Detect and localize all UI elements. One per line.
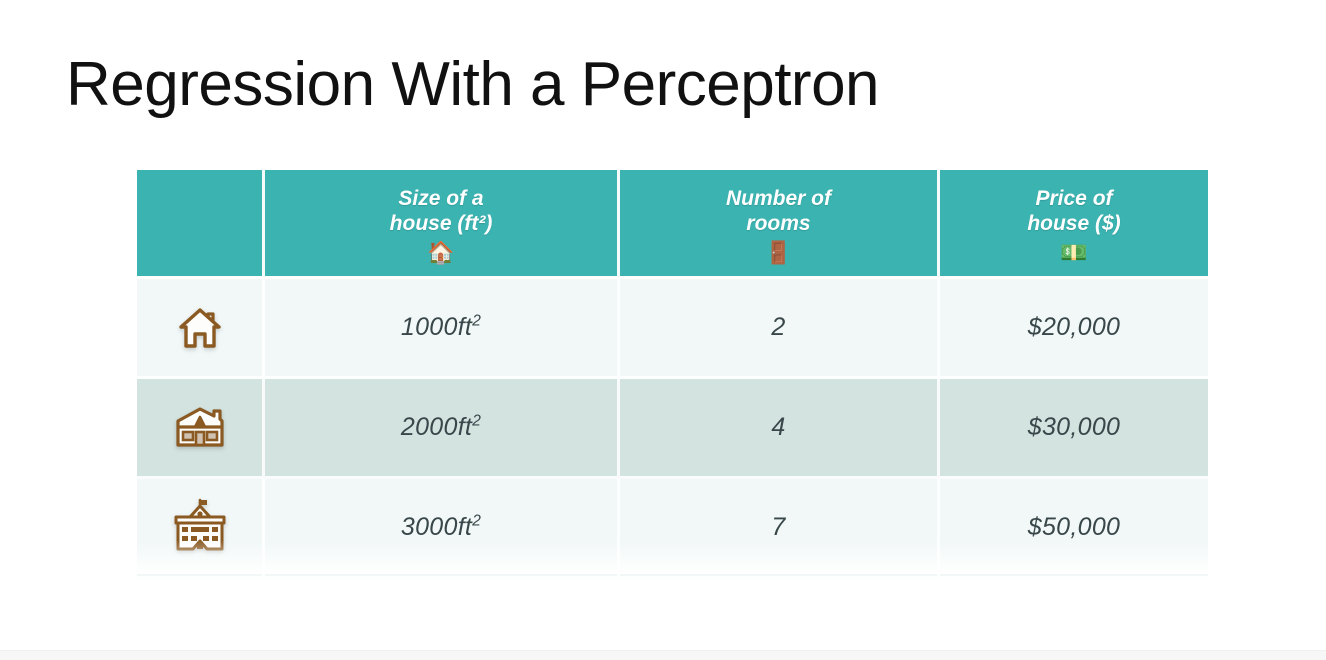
house-emoji: 🏠	[273, 240, 609, 266]
cell-size-superscript: 2	[472, 313, 481, 330]
row-icon-cell	[137, 479, 265, 579]
column-header-size-label: Size of a house (ft²)	[390, 187, 493, 235]
cell-price: $50,000	[940, 479, 1208, 579]
bottom-edge-strip	[0, 650, 1326, 660]
table-header-row: Size of a house (ft²) 🏠 Number of rooms …	[137, 170, 1208, 279]
cell-price: $20,000	[940, 279, 1208, 379]
cell-size-value: 3000ft	[401, 513, 472, 541]
cell-rooms: 7	[620, 479, 940, 579]
large-house-icon	[167, 497, 233, 559]
row-icon-cell	[137, 279, 265, 379]
column-header-rooms: Number of rooms 🚪	[620, 170, 940, 279]
cell-size-superscript: 2	[472, 413, 481, 430]
medium-house-icon	[171, 404, 229, 452]
cell-size: 1000ft2	[265, 279, 620, 379]
column-header-size: Size of a house (ft²) 🏠	[265, 170, 620, 279]
cell-size-superscript: 2	[472, 513, 481, 530]
column-header-rooms-label: Number of rooms	[726, 187, 831, 235]
cell-price-value: $20,000	[1028, 313, 1120, 341]
row-icon-cell	[137, 379, 265, 479]
small-house-icon	[176, 305, 224, 351]
cell-rooms-value: 7	[771, 513, 785, 541]
slide-canvas: Regression With a Perceptron Size of a h…	[0, 0, 1326, 660]
cell-size: 3000ft2	[265, 479, 620, 579]
cell-price-value: $50,000	[1028, 513, 1120, 541]
cell-size: 2000ft2	[265, 379, 620, 479]
cell-price-value: $30,000	[1028, 413, 1120, 441]
cell-size-value: 2000ft	[401, 413, 472, 441]
column-header-icon	[137, 170, 265, 279]
cell-rooms: 2	[620, 279, 940, 379]
cell-rooms-value: 2	[771, 313, 785, 341]
column-header-price-label: Price of house ($)	[1027, 187, 1120, 235]
dollar-banknote-emoji: 💵	[948, 240, 1200, 266]
house-data-table: Size of a house (ft²) 🏠 Number of rooms …	[137, 170, 1208, 579]
table-row: 2000ft2 4 $30,000	[137, 379, 1208, 479]
cell-rooms: 4	[620, 379, 940, 479]
cell-rooms-value: 4	[771, 413, 785, 441]
cell-price: $30,000	[940, 379, 1208, 479]
door-emoji: 🚪	[628, 240, 929, 266]
page-title: Regression With a Perceptron	[66, 48, 879, 122]
table-row: 3000ft2 7 $50,000	[137, 479, 1208, 579]
cell-size-value: 1000ft	[401, 313, 472, 341]
column-header-price: Price of house ($) 💵	[940, 170, 1208, 279]
table-row: 1000ft2 2 $20,000	[137, 279, 1208, 379]
